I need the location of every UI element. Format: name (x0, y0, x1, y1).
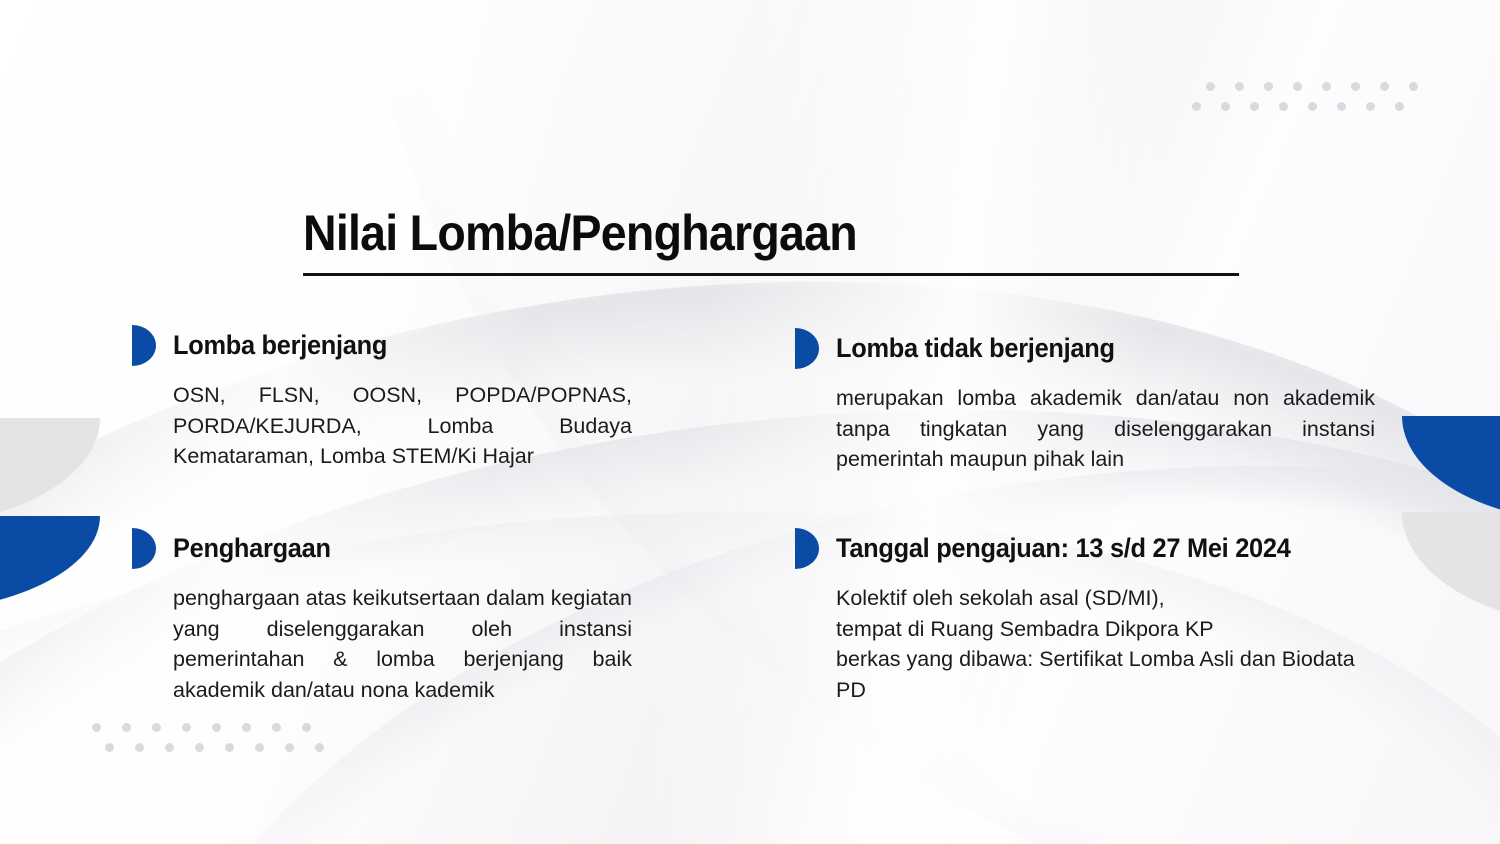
title-divider (303, 273, 1239, 276)
section-tanggal-pengajuan: Tanggal pengajuan: 13 s/d 27 Mei 2024 Ko… (795, 528, 1375, 705)
dot (165, 743, 174, 752)
decor-dot-grid-top-right (1192, 82, 1418, 111)
decor-dot-grid-bottom-left (92, 723, 324, 752)
dot (92, 723, 101, 732)
dot (1221, 102, 1230, 111)
dot (1337, 102, 1346, 111)
section-lomba-tidak-berjenjang: Lomba tidak berjenjang merupakan lomba a… (795, 328, 1375, 475)
dot (105, 743, 114, 752)
dot (122, 723, 131, 732)
section-body: Kolektif oleh sekolah asal (SD/MI), temp… (836, 583, 1375, 705)
dot (1250, 102, 1259, 111)
dot (1293, 82, 1302, 91)
section-heading: Lomba berjenjang (173, 325, 604, 366)
section-body: merupakan lomba akademik dan/atau non ak… (836, 383, 1375, 475)
dot (255, 743, 264, 752)
section-penghargaan: Penghargaan penghargaan atas keikutserta… (132, 528, 632, 705)
dot (315, 743, 324, 752)
dot-row (1192, 102, 1418, 111)
dot (1395, 102, 1404, 111)
section-heading: Tanggal pengajuan: 13 s/d 27 Mei 2024 (836, 528, 1343, 569)
dot (242, 723, 251, 732)
dot (1366, 102, 1375, 111)
section-lomba-berjenjang: Lomba berjenjang OSN, FLSN, OOSN, POPDA/… (132, 325, 632, 472)
dot (182, 723, 191, 732)
dot (285, 743, 294, 752)
section-heading: Penghargaan (173, 528, 604, 569)
dot-row (92, 723, 324, 732)
slide-title: Nilai Lomba/Penghargaan (303, 204, 857, 262)
slide-canvas: Nilai Lomba/Penghargaan Lomba berjenjang… (0, 0, 1500, 844)
dot (1206, 82, 1215, 91)
dot (1264, 82, 1273, 91)
dot (152, 723, 161, 732)
dot (1308, 102, 1317, 111)
dot (225, 743, 234, 752)
dot (135, 743, 144, 752)
dot (1279, 102, 1288, 111)
section-heading: Lomba tidak berjenjang (836, 328, 1343, 369)
dot-row (1206, 82, 1418, 91)
dot (195, 743, 204, 752)
dot (212, 723, 221, 732)
dot (1322, 82, 1331, 91)
dot (1192, 102, 1201, 111)
bullet-marker-icon (132, 325, 156, 366)
dot (1351, 82, 1360, 91)
bullet-marker-icon (132, 528, 156, 569)
bullet-marker-icon (795, 528, 819, 569)
bullet-marker-icon (795, 328, 819, 369)
dot (1409, 82, 1418, 91)
dot-row (105, 743, 324, 752)
section-body: penghargaan atas keikutsertaan dalam keg… (173, 583, 632, 705)
dot (272, 723, 281, 732)
dot (1380, 82, 1389, 91)
section-body: OSN, FLSN, OOSN, POPDA/POPNAS, PORDA/KEJ… (173, 380, 632, 472)
dot (302, 723, 311, 732)
dot (1235, 82, 1244, 91)
